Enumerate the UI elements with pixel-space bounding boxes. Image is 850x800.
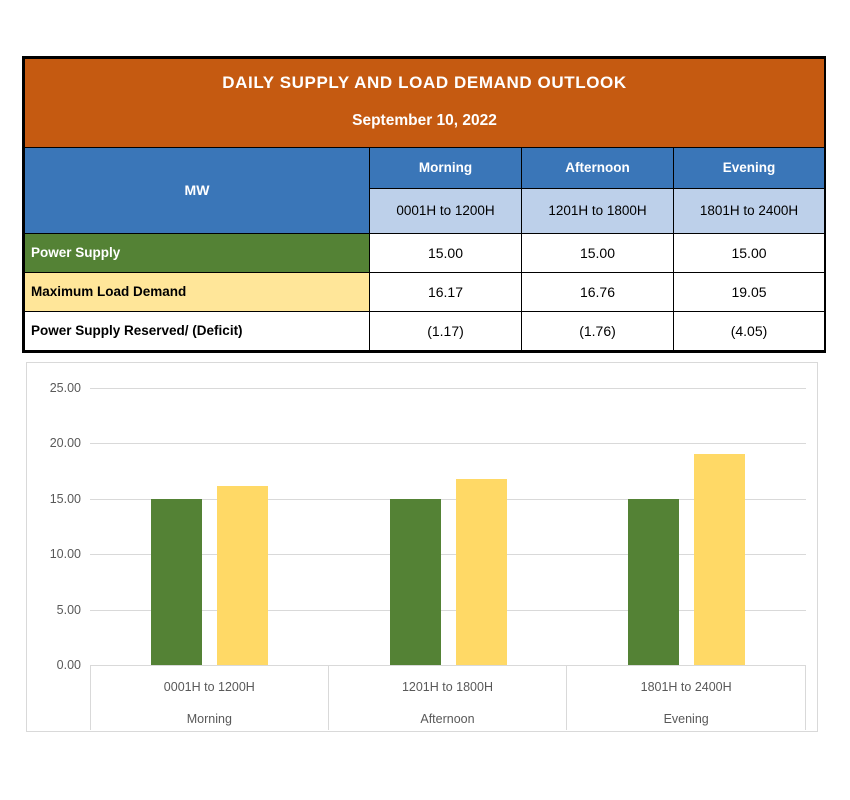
table-row: Maximum Load Demand 16.17 16.76 19.05 <box>25 272 825 311</box>
table-row: Power Supply Reserved/ (Deficit) (1.17) … <box>25 311 825 350</box>
period-header-evening: Evening <box>674 147 825 188</box>
x-axis-period-label: Afternoon <box>329 713 567 726</box>
chart-bar-power-supply <box>628 499 679 665</box>
table-title-cell: DAILY SUPPLY AND LOAD DEMAND OUTLOOK Sep… <box>25 59 825 148</box>
range-header-afternoon: 1201H to 1800H <box>522 188 674 233</box>
cell-max-load-afternoon: 16.76 <box>522 272 674 311</box>
cell-power-supply-morning: 15.00 <box>370 233 522 272</box>
row-label-maximum-load-demand: Maximum Load Demand <box>25 272 370 311</box>
cell-reserved-evening: (4.05) <box>674 311 825 350</box>
x-axis-period-label: Evening <box>567 713 805 726</box>
y-axis-tick-label: 20.00 <box>50 436 81 450</box>
y-axis-tick-label: 5.00 <box>57 603 81 617</box>
x-axis-range-label: 1801H to 2400H <box>567 681 805 694</box>
cell-max-load-evening: 19.05 <box>674 272 825 311</box>
range-header-evening: 1801H to 2400H <box>674 188 825 233</box>
table-header-row: MW Morning Afternoon Evening <box>25 147 825 188</box>
chart-bar-max-load-demand <box>694 454 745 665</box>
x-axis-period-label: Morning <box>91 713 328 726</box>
range-header-morning: 0001H to 1200H <box>370 188 522 233</box>
chart-category-axis: 0001H to 1200HMorning1201H to 1800HAfter… <box>90 665 806 730</box>
category-tick-group: 1801H to 2400HEvening <box>567 666 806 730</box>
cell-reserved-afternoon: (1.76) <box>522 311 674 350</box>
unit-header-cell: MW <box>25 147 370 233</box>
supply-demand-bar-chart: 0.005.0010.0015.0020.0025.00 0001H to 12… <box>26 362 818 732</box>
y-axis-tick-label: 25.00 <box>50 381 81 395</box>
row-label-power-supply: Power Supply <box>25 233 370 272</box>
x-axis-range-label: 0001H to 1200H <box>91 681 328 694</box>
cell-power-supply-afternoon: 15.00 <box>522 233 674 272</box>
page-title: DAILY SUPPLY AND LOAD DEMAND OUTLOOK <box>31 73 818 112</box>
chart-bar-max-load-demand <box>456 479 507 665</box>
outlook-table: DAILY SUPPLY AND LOAD DEMAND OUTLOOK Sep… <box>22 56 826 353</box>
x-axis-range-label: 1201H to 1800H <box>329 681 567 694</box>
category-tick-group: 0001H to 1200HMorning <box>90 666 329 730</box>
chart-bar-power-supply <box>390 499 441 665</box>
page-subtitle-date: September 10, 2022 <box>31 112 818 131</box>
category-tick-group: 1201H to 1800HAfternoon <box>329 666 568 730</box>
period-header-morning: Morning <box>370 147 522 188</box>
chart-gridline: 25.00 <box>90 388 806 389</box>
y-axis-tick-label: 0.00 <box>57 658 81 672</box>
y-axis-tick-label: 10.00 <box>50 547 81 561</box>
period-header-afternoon: Afternoon <box>522 147 674 188</box>
row-label-reserved-deficit: Power Supply Reserved/ (Deficit) <box>25 311 370 350</box>
cell-max-load-morning: 16.17 <box>370 272 522 311</box>
table-row: Power Supply 15.00 15.00 15.00 <box>25 233 825 272</box>
chart-plot-area: 0.005.0010.0015.0020.0025.00 <box>90 388 806 665</box>
cell-reserved-morning: (1.17) <box>370 311 522 350</box>
chart-bar-max-load-demand <box>217 486 268 665</box>
chart-bar-power-supply <box>151 499 202 665</box>
cell-power-supply-evening: 15.00 <box>674 233 825 272</box>
table-title-row: DAILY SUPPLY AND LOAD DEMAND OUTLOOK Sep… <box>25 59 825 148</box>
chart-gridline: 20.00 <box>90 443 806 444</box>
y-axis-tick-label: 15.00 <box>50 492 81 506</box>
